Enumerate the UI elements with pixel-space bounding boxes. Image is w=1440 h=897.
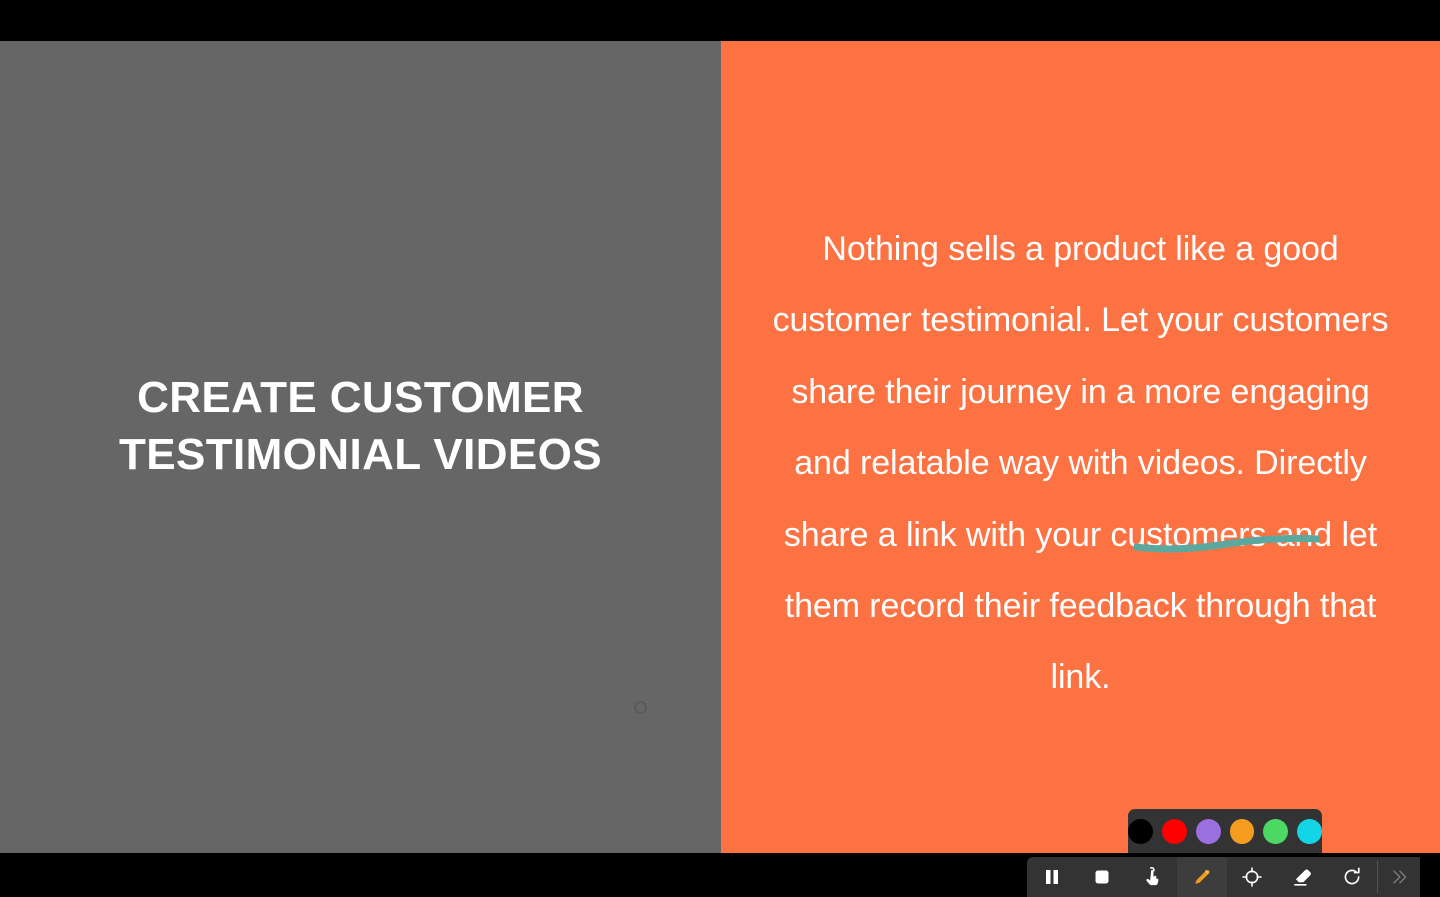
- reset-button[interactable]: [1327, 857, 1377, 897]
- pause-icon: [1042, 867, 1062, 887]
- color-purple[interactable]: [1196, 819, 1221, 844]
- spotlight-button[interactable]: [1227, 857, 1277, 897]
- color-orange[interactable]: [1230, 819, 1255, 844]
- stop-button[interactable]: [1077, 857, 1127, 897]
- eraser-icon: [1291, 866, 1314, 889]
- pen-button[interactable]: [1177, 857, 1227, 897]
- pencil-icon: [1191, 866, 1213, 888]
- color-cyan[interactable]: [1297, 819, 1322, 844]
- pause-button[interactable]: [1027, 857, 1077, 897]
- slide-left-panel: CREATE CUSTOMER TESTIMONIAL VIDEOS: [0, 41, 721, 853]
- hand-tap-icon: [1141, 866, 1163, 888]
- annotation-toolbar[interactable]: [1027, 857, 1420, 897]
- refresh-icon: [1341, 866, 1363, 888]
- color-green[interactable]: [1263, 819, 1288, 844]
- slide-title: CREATE CUSTOMER TESTIMONIAL VIDEOS: [51, 369, 671, 483]
- pen-color-palette[interactable]: [1128, 809, 1322, 853]
- color-red[interactable]: [1162, 819, 1187, 844]
- chevron-double-right-icon: [1389, 867, 1409, 887]
- crosshair-icon: [1241, 866, 1263, 888]
- eraser-button[interactable]: [1277, 857, 1327, 897]
- pointer-button[interactable]: [1127, 857, 1177, 897]
- stop-icon: [1092, 867, 1112, 887]
- slide-right-panel: Nothing sells a product like a good cust…: [721, 41, 1440, 853]
- ink-dot-annotation: [634, 701, 647, 714]
- slide-body-text: Nothing sells a product like a good cust…: [761, 214, 1401, 714]
- expand-button[interactable]: [1378, 857, 1420, 897]
- color-black[interactable]: [1128, 819, 1153, 844]
- presentation-stage: CREATE CUSTOMER TESTIMONIAL VIDEOS Nothi…: [0, 41, 1440, 853]
